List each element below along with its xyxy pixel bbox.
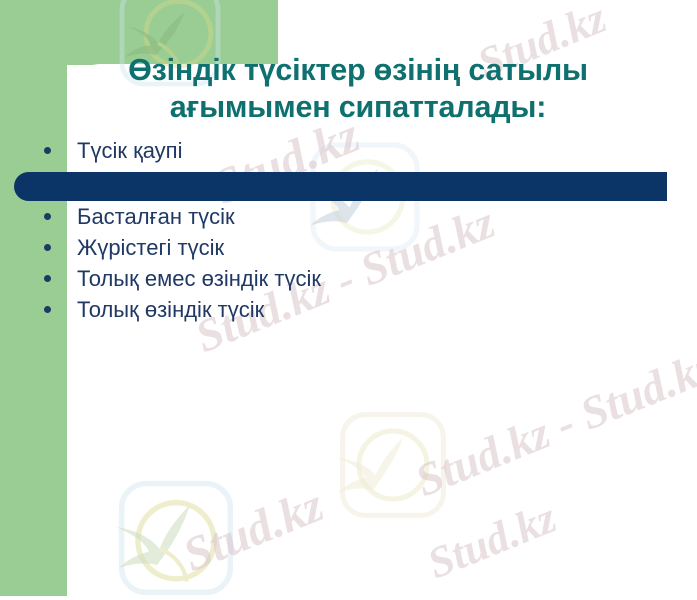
bullet-list: Түсік қаупі Басталған түсік Жүрістегі тү… bbox=[0, 136, 697, 326]
slide-title: Өзіндік түсіктер өзінің сатылы ағымымен … bbox=[67, 52, 697, 126]
slide-title-line-2: ағымымен сипатталады: bbox=[67, 89, 649, 126]
list-item: Толық өзіндік түсік bbox=[0, 295, 697, 326]
slide-title-line-1: Өзіндік түсіктер өзінің сатылы bbox=[67, 52, 649, 89]
slide-title-container: Өзіндік түсіктер өзінің сатылы ағымымен … bbox=[67, 52, 697, 138]
list-item-label: Толық емес өзіндік түсік bbox=[77, 264, 321, 294]
bullet-dot-icon bbox=[44, 275, 51, 282]
list-item-label: Жүрістегі түсік bbox=[77, 233, 224, 263]
list-item-label: Түсік қаупі bbox=[77, 136, 182, 166]
list-item: Толық емес өзіндік түсік bbox=[0, 264, 697, 295]
navy-divider-bar bbox=[14, 172, 667, 201]
list-item: Басталған түсік bbox=[0, 202, 697, 233]
bullet-dot-icon bbox=[44, 306, 51, 313]
bullet-dot-icon bbox=[44, 244, 51, 251]
bullet-dot-icon bbox=[44, 213, 51, 220]
list-item-label: Басталған түсік bbox=[77, 202, 235, 232]
list-item: Жүрістегі түсік bbox=[0, 233, 697, 264]
bullet-dot-icon bbox=[44, 147, 51, 154]
slide-canvas: Stud.kz Stud.kz Stud.kz - Stud.kz Stud.k… bbox=[0, 0, 697, 600]
list-item-label: Толық өзіндік түсік bbox=[77, 295, 264, 325]
list-item: Түсік қаупі bbox=[0, 136, 697, 167]
